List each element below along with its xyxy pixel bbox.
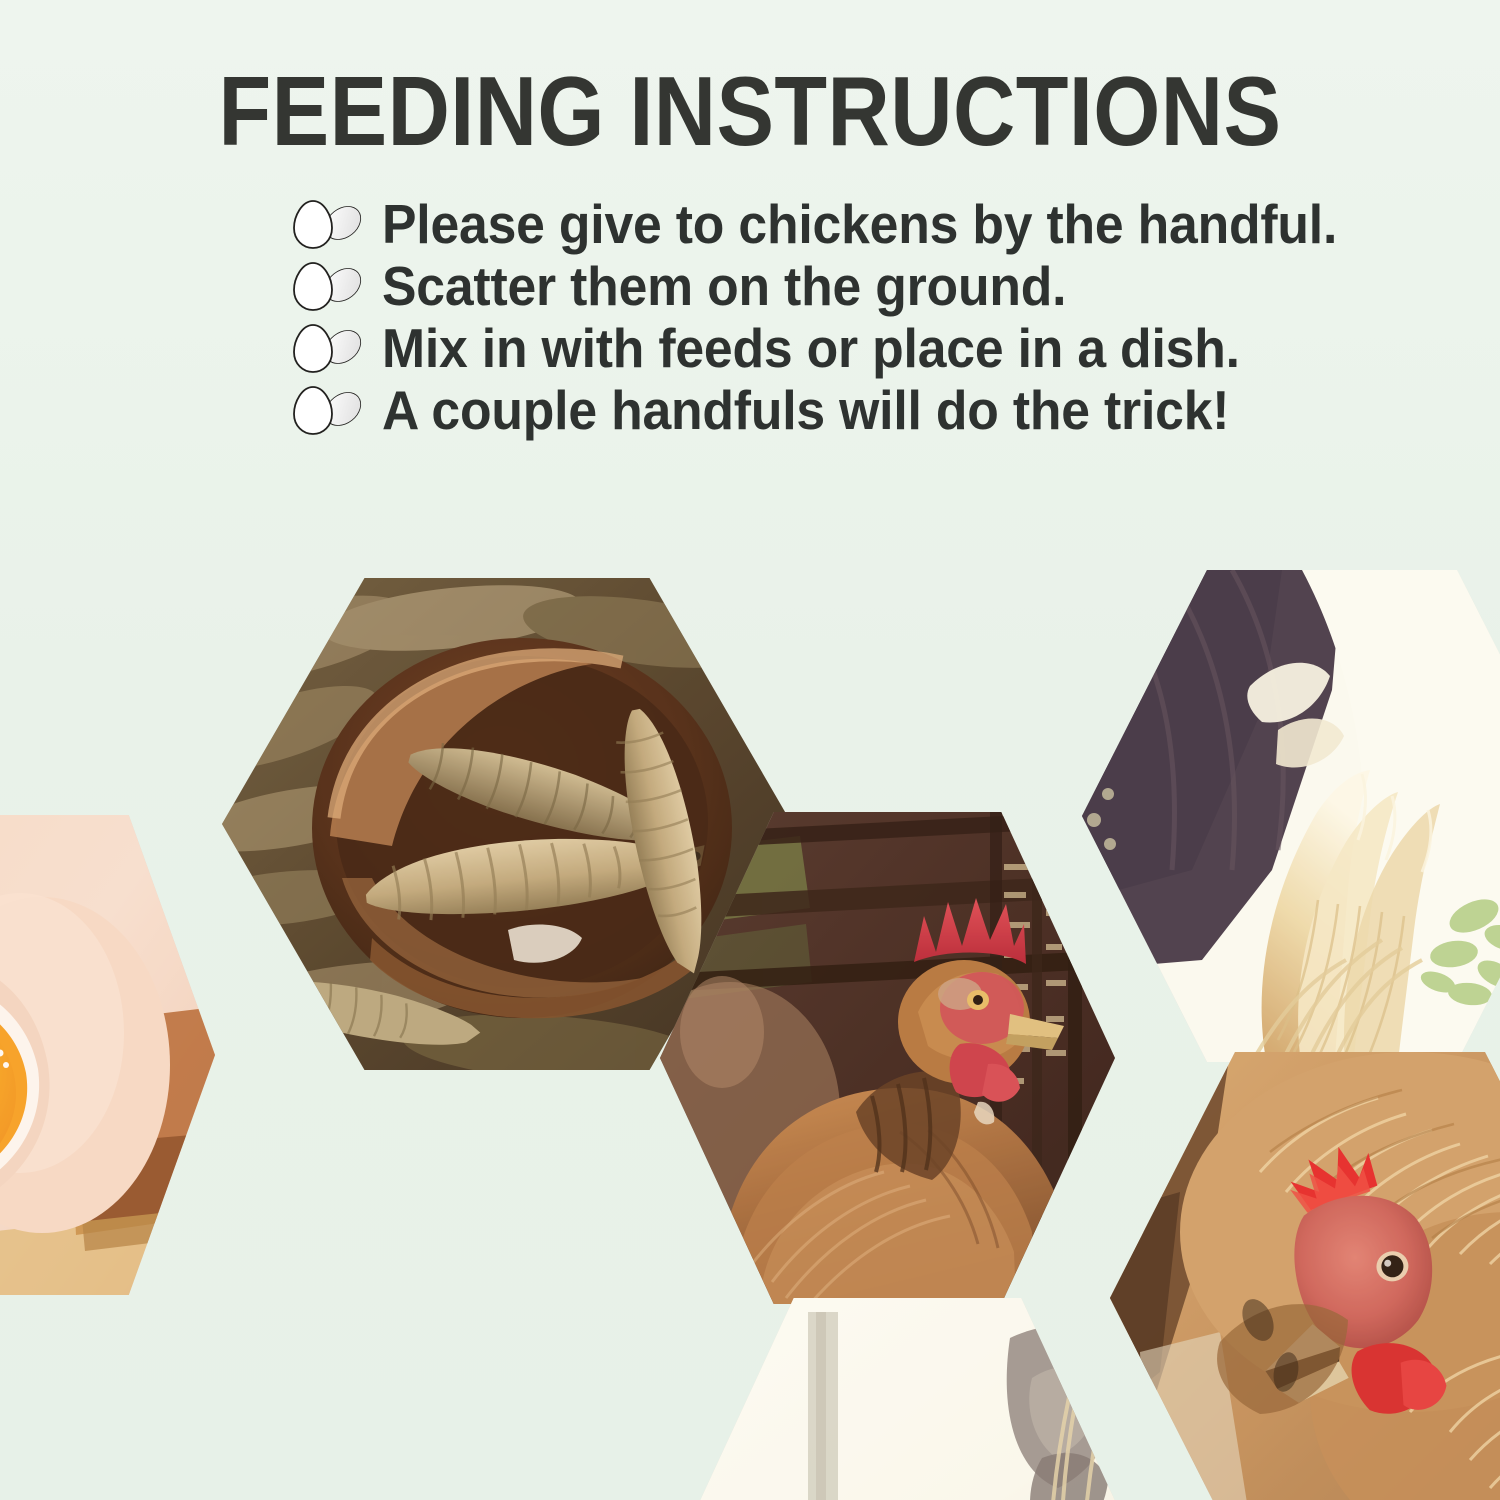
hex-tile-bright-post [680,1298,1135,1500]
hex-tile-egg-yolk [0,815,215,1295]
hex-tile-feathers-bright [1082,570,1500,1062]
chicken-head-closeup-photo [1110,1052,1500,1500]
hexagon-photo-collage [0,0,1500,1500]
sunlit-feathers-photo [1082,570,1500,1062]
hex-tile-hen-closeup [1110,1052,1500,1500]
sunlit-post-photo [680,1298,1135,1500]
poster-canvas: FEEDING INSTRUCTIONS [0,0,1500,1500]
cracked-egg-photo [0,815,215,1295]
